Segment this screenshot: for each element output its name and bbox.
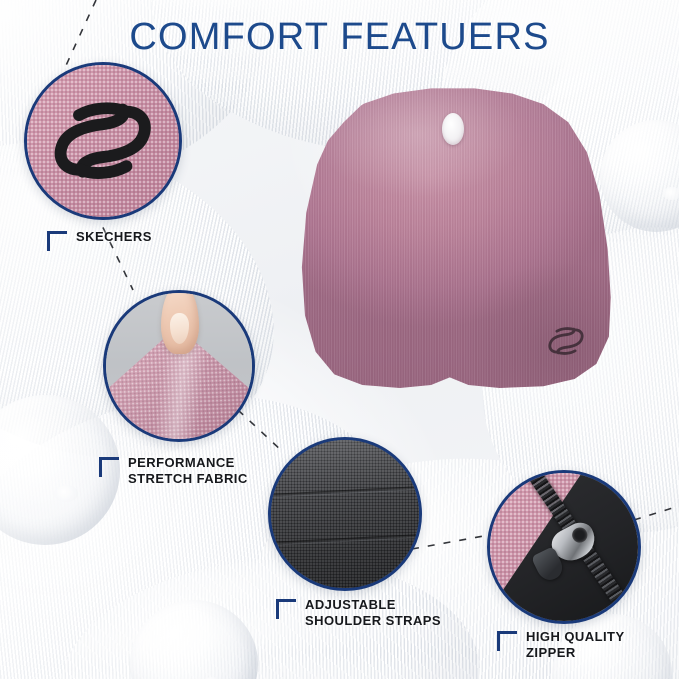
callout-high-quality-zipper[interactable] [487, 470, 641, 624]
corner-bracket-icon [47, 231, 67, 251]
corner-bracket-icon [497, 631, 517, 651]
label-adjustable-shoulder-straps: ADJUSTABLE SHOULDER STRAPS [276, 597, 441, 629]
label-high-quality-zipper-text: HIGH QUALITY ZIPPER [526, 629, 625, 661]
corner-bracket-icon [99, 457, 119, 477]
label-adjustable-shoulder-straps-text: ADJUSTABLE SHOULDER STRAPS [305, 597, 441, 629]
callout-straps-image [271, 440, 419, 588]
label-performance-stretch-fabric-text: PERFORMANCE STRETCH FABRIC [128, 455, 248, 487]
page-title: COMFORT FEATUERS [0, 18, 679, 56]
callout-skechers[interactable] [24, 62, 182, 220]
skechers-s-logo-icon [48, 92, 157, 189]
callout-performance-stretch-fabric[interactable] [103, 290, 255, 442]
product-cushion [300, 86, 612, 388]
callout-stretch-fabric-image [106, 293, 252, 439]
label-high-quality-zipper: HIGH QUALITY ZIPPER [497, 629, 625, 661]
callout-skechers-image [27, 65, 179, 217]
skechers-s-logo-icon [545, 324, 587, 358]
strap-shading [271, 440, 419, 588]
callout-adjustable-shoulder-straps[interactable] [268, 437, 422, 591]
infographic-canvas: COMFORT FEATUERS [0, 0, 679, 679]
label-skechers-text: SKECHERS [76, 229, 152, 245]
corner-bracket-icon [276, 599, 296, 619]
callout-zipper-image [490, 473, 638, 621]
label-performance-stretch-fabric: PERFORMANCE STRETCH FABRIC [99, 455, 248, 487]
label-skechers: SKECHERS [47, 229, 152, 251]
